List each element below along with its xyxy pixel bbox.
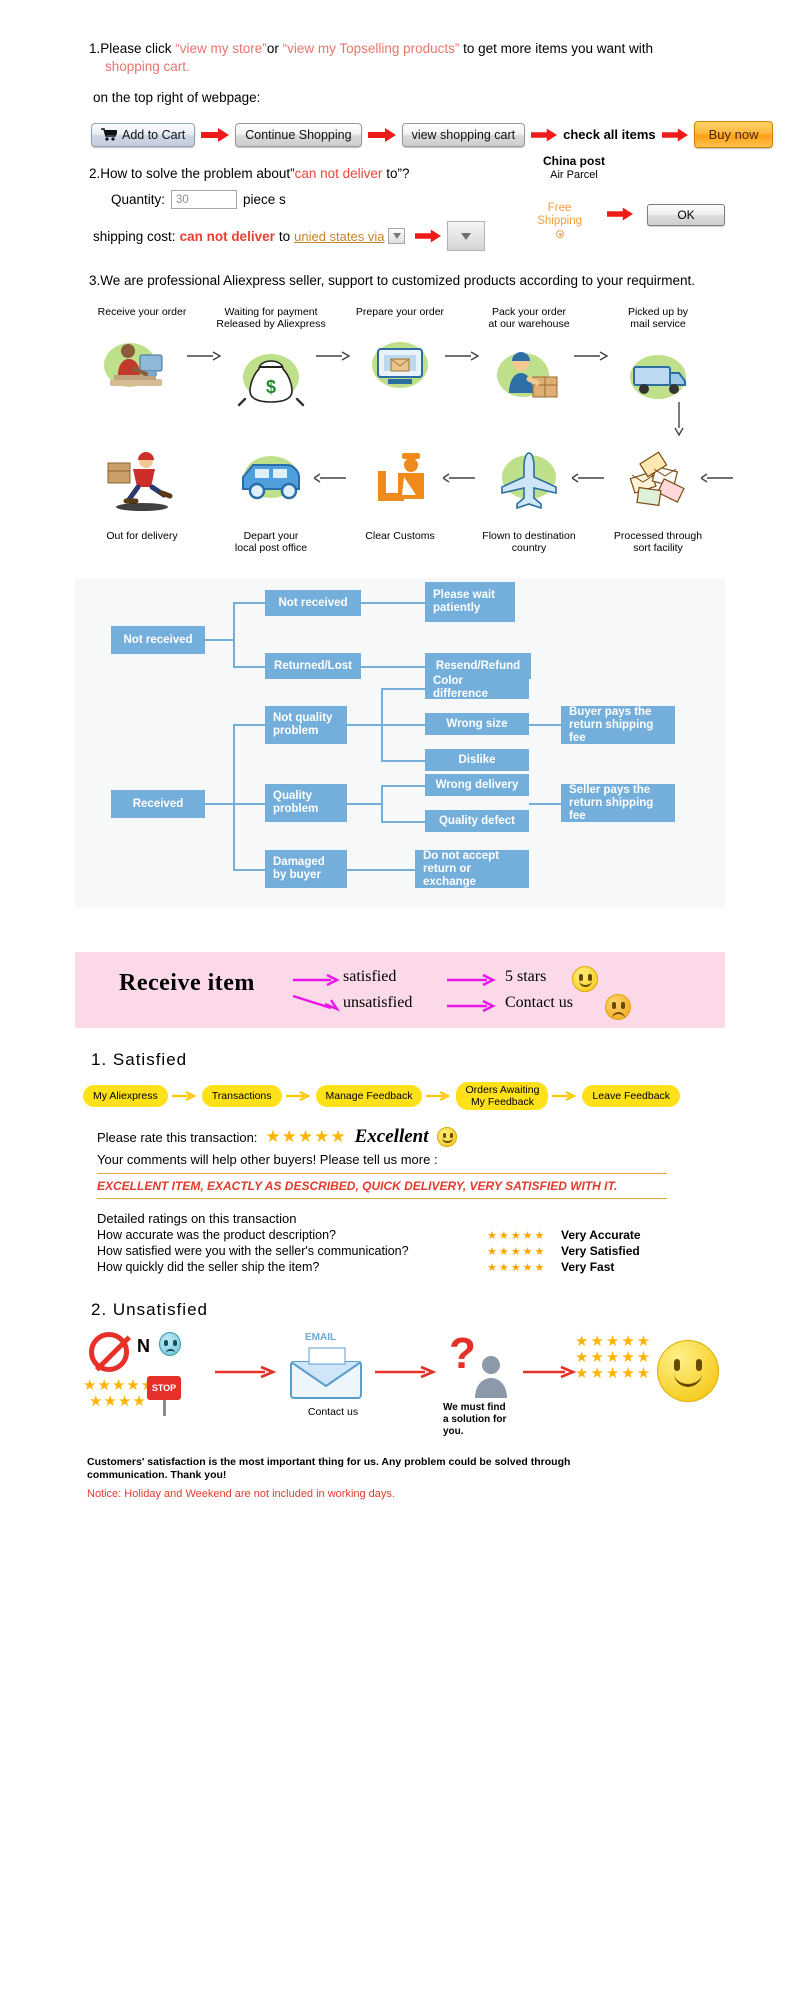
magenta-arrow-icon [293,994,341,1014]
box-label: Returned/Lost [274,660,352,673]
box-label: Dislike [458,754,495,767]
flow-box-not-received-root: Not received [111,626,205,654]
check-all-items-label: check all items [563,127,656,142]
flow-caption: Waiting for payment Released by Aliexpre… [216,306,326,330]
quantity-label: Quantity: [111,192,165,207]
flow-caption: Processed through sort facility [603,530,713,554]
box-label: Quality problem [273,790,318,816]
review-text-box: EXCELLENT ITEM, EXACTLY AS DESCRIBED, QU… [97,1173,667,1199]
add-to-cart-button[interactable]: Add to Cart [91,123,195,147]
piece-label: piece s [243,192,286,207]
returns-policy-flowchart: Not received Not received Please wait pa… [75,578,725,908]
rating-label: Very Satisfied [561,1244,640,1258]
flow-box-seller-pays: Seller pays the return shipping fee [561,784,675,822]
box-label: Wrong delivery [436,779,519,792]
rating-stars: ★★★★★ [487,1261,561,1274]
happy-face-icon [657,1340,719,1402]
instruction-line-3: on the top right of webpage: [75,90,725,105]
box-label: Damaged by buyer [273,856,325,882]
rate-transaction-row: Please rate this transaction: ★★★★★ Exce… [97,1126,725,1148]
rating-label: Very Fast [561,1260,614,1274]
rating-question: How accurate was the product description… [97,1228,487,1242]
rating-stars: ★★★★★ [487,1245,561,1258]
view-my-store-link[interactable]: “view my store” [175,41,267,56]
pill-leave-feedback[interactable]: Leave Feedback [582,1085,680,1107]
review-text: EXCELLENT ITEM, EXACTLY AS DESCRIBED, QU… [97,1179,617,1193]
arrow-right-icon [415,228,441,244]
flow-step: Processed through sort facility [603,432,713,554]
flow-step: Clear Customs [345,432,455,542]
computer-box-icon [345,324,455,412]
instruction-tail: to get more items you want with [459,41,653,56]
email-label: EMAIL [305,1332,336,1343]
rating-question: How satisfied were you with the seller's… [97,1244,487,1258]
worker-packing-icon [474,336,584,424]
arrow-right-icon [552,1090,578,1102]
arrow-right-icon [523,1364,577,1380]
arrow-right-icon [426,1090,452,1102]
flow-arrow-icon [187,350,221,362]
country-select-value[interactable]: unied states via [294,229,384,244]
flow-box-damaged-by-buyer: Damaged by buyer [265,850,347,888]
box-label: Received [133,798,184,811]
shipping-label: Shipping [537,215,582,228]
flow-caption: Flown to destination country [474,530,584,554]
box-label: Wrong size [446,718,507,731]
truck-icon [603,336,713,424]
receive-item-label: Receive item [119,970,255,997]
flow-box-color-difference: Color difference [425,677,529,699]
cannot-deliver-text: can not deliver [180,229,275,244]
instruction-prefix: 1.Please click [89,41,175,56]
rate-transaction-label: Please rate this transaction: [97,1130,257,1145]
flow-box-returned-lost: Returned/Lost [265,653,361,679]
rating-stars: ★★★★★ [487,1229,561,1242]
flow-box-quality-defect: Quality defect [425,810,529,832]
unsatisfied-illustration-row: ★★★★★ ★★★★ N STOP EMAIL Contact us [75,1328,725,1448]
footer-note-line-2: communication. Thank you! [87,1469,725,1482]
detailed-ratings-label: Detailed ratings on this transaction [97,1211,725,1226]
section-1: 1.Please click “view my store”or “view m… [75,0,725,148]
excellent-label: Excellent [355,1126,429,1148]
flow-arrow-left-icon [314,472,346,484]
instruction-line-2: shopping cart. [75,58,725,76]
to-text: to [279,229,290,244]
flow-step: Receive your order [87,306,197,412]
happy-face-icon [437,1127,457,1147]
airplane-icon [474,438,584,526]
section-2-heading: 2.How to solve the problem about”can not… [75,166,725,181]
flow-step: Depart your local post office [216,432,326,554]
view-topselling-link[interactable]: “view my Topselling products” [283,41,460,56]
magenta-arrow-icon [447,972,497,988]
detailed-rating-row: How satisfied were you with the seller's… [97,1244,725,1258]
flow-arrow-icon [574,350,608,362]
flow-box-not-quality-problem: Not quality problem [265,706,347,744]
contact-us-label: Contact us [505,994,573,1012]
flow-caption: Out for delivery [87,530,197,542]
happy-face-icon [572,966,598,992]
flow-step: Flown to destination country [474,432,584,554]
free-label: Free [537,202,582,215]
flow-box-not-received-child: Not received [265,590,361,616]
detailed-rating-row: How accurate was the product description… [97,1228,725,1242]
rating-label: Very Accurate [561,1228,641,1242]
cart-button-row: Add to Cart Continue Shopping view shopp… [75,121,725,148]
flow-caption: Receive your order [87,306,197,318]
arrow-right-icon [375,1364,437,1380]
heading-red: can not deliver [295,166,383,181]
arrow-right-icon [662,127,688,143]
svg-text:$: $ [266,377,276,397]
holiday-notice: Notice: Holiday and Weekend are not incl… [87,1488,725,1500]
we-must-find-caption: We must find a solution for you. [443,1402,506,1438]
continue-shopping-label: Continue Shopping [245,128,351,142]
shipping-cost-row: shipping cost:can not deliver to unied s… [75,221,725,251]
five-stars-label: 5 stars [505,968,546,986]
cart-icon [101,128,117,141]
free-shipping-option[interactable]: Free Shipping [537,202,582,238]
instruction-mid: or [267,41,283,56]
flow-step: Picked up by mail service [603,306,713,424]
ok-label: OK [677,208,694,222]
buy-now-button[interactable]: Buy now [694,121,774,148]
rating-stars[interactable]: ★★★★★ [265,1127,346,1147]
heading-a: 2.How to solve the problem about” [89,166,295,181]
ok-button[interactable]: OK [647,204,725,226]
magenta-arrow-icon [447,998,497,1014]
box-label: Not received [123,634,192,647]
shipping-flow-row-2: Out for delivery Depart your local post … [75,432,725,554]
arrow-right-icon [368,127,396,143]
flow-box-please-wait: Please wait patiently [425,582,515,622]
pill-manage-feedback[interactable]: Manage Feedback [316,1085,423,1107]
email-envelope-icon: EMAIL [287,1334,367,1407]
flow-arrow-left-icon [572,472,604,484]
flow-box-buyer-pays: Buyer pays the return shipping fee [561,706,675,744]
shipping-cost-label: shipping cost: [93,229,176,244]
radio-selected-icon[interactable] [556,230,564,238]
pill-orders-awaiting-my-feedback[interactable]: Orders Awaiting My Feedback [456,1082,548,1110]
box-label: Please wait patiently [433,589,495,615]
arrow-right-icon [215,1364,277,1380]
running-courier-icon [87,438,197,526]
china-post-block: China post Air Parcel [543,154,605,181]
pill-transactions[interactable]: Transactions [202,1085,282,1107]
flow-box-received-root: Received [111,790,205,818]
stop-label: STOP [152,1383,176,1393]
arrow-right-icon [201,127,229,143]
person-icon [471,1354,511,1405]
air-parcel-label: Air Parcel [543,169,605,181]
magenta-arrow-icon [293,972,341,988]
feedback-breadcrumb-row: My Aliexpress Transactions Manage Feedba… [83,1082,725,1110]
view-shopping-cart-label: view shopping cart [412,128,516,142]
contact-us-caption: Contact us [293,1406,373,1418]
unsatisfied-heading: 2. Unsatisfied [91,1300,725,1320]
no-letter-label: N [137,1336,150,1357]
flow-caption: Prepare your order [345,306,455,318]
flow-arrow-icon [316,350,350,362]
flow-box-do-not-accept: Do not accept return or exchange [415,850,529,888]
flow-arrow-left-icon [701,472,733,484]
money-bag-icon: $ [216,336,326,424]
box-label: Buyer pays the return shipping fee [569,706,667,745]
heading-b: to”? [382,166,409,181]
china-post-label: China post [543,154,605,168]
satisfied-heading: 1. Satisfied [91,1050,725,1070]
arrow-right-icon [286,1090,312,1102]
continue-shopping-button[interactable]: Continue Shopping [235,123,361,147]
shipping-flow-diagram: Receive your order Waiti [75,306,725,554]
low-rating-stars: ★★★★ [89,1392,147,1410]
quantity-input[interactable]: 30 [171,190,237,209]
box-label: Not quality problem [273,712,332,738]
flow-box-quality-problem: Quality problem [265,784,347,822]
worried-face-icon [159,1332,181,1356]
flow-caption: Picked up by mail service [603,306,713,330]
shipping-flow-row-1: Receive your order Waiti [75,306,725,424]
arrow-right-icon [172,1090,198,1102]
mail-sorting-icon [603,438,713,526]
box-label: Color difference [433,675,521,701]
van-icon [216,438,326,526]
buy-now-label: Buy now [709,127,759,142]
unsatisfied-label: unsatisfied [343,994,412,1012]
flow-arrow-left-icon [443,472,475,484]
pill-my-aliexpress[interactable]: My Aliexpress [83,1085,168,1107]
customs-officer-icon [345,438,455,526]
section-3-text: 3.We are professional Aliexpress seller,… [75,273,725,288]
page-root: 1.Please click “view my store”or “view m… [75,0,725,1500]
view-shopping-cart-button[interactable]: view shopping cart [402,123,526,147]
flow-arrow-down-icon [673,402,685,436]
instruction-line-1: 1.Please click “view my store”or “view m… [75,40,725,58]
arrow-right-icon [607,206,633,222]
satisfied-label: satisfied [343,968,396,986]
sad-face-icon [605,994,631,1020]
rating-question: How quickly did the seller ship the item… [97,1260,487,1274]
flow-box-wrong-size: Wrong size [425,713,529,735]
person-at-computer-icon [87,324,197,412]
shipping-method-dropdown[interactable] [447,221,485,251]
receive-item-band: Receive item satisfied unsatisfied 5 sta… [75,952,725,1028]
box-label: Quality defect [439,815,515,828]
box-label: Not received [278,597,347,610]
flow-step: Pack your order at our warehouse [474,306,584,424]
comments-help-label: Your comments will help other buyers! Pl… [97,1152,725,1167]
high-rating-stars: ★★★★★★★★★★★★★★★ [575,1334,652,1382]
no-sign-icon [89,1332,129,1372]
flow-caption: Pack your order at our warehouse [474,306,584,330]
box-label: Do not accept return or exchange [423,850,521,889]
section-2: 2.How to solve the problem about”can not… [75,166,725,251]
flow-step: Out for delivery [87,432,197,542]
flow-step: Waiting for payment Released by Aliexpre… [216,306,326,424]
box-label: Seller pays the return shipping fee [569,784,667,823]
flow-caption: Depart your local post office [216,530,326,554]
flow-box-wrong-delivery: Wrong delivery [425,774,529,796]
flow-step: Prepare your order [345,306,455,412]
stop-sign-icon: STOP [147,1376,181,1416]
arrow-right-icon [531,127,557,143]
detailed-rating-row: How quickly did the seller ship the item… [97,1260,725,1274]
country-dropdown-arrow[interactable] [388,228,405,244]
box-label: Resend/Refund [436,660,520,673]
flow-box-dislike: Dislike [425,749,529,771]
flow-arrow-icon [445,350,479,362]
flow-caption: Clear Customs [345,530,455,542]
footer-note-line-1: Customers' satisfaction is the most impo… [87,1456,725,1469]
add-to-cart-label: Add to Cart [122,128,185,142]
